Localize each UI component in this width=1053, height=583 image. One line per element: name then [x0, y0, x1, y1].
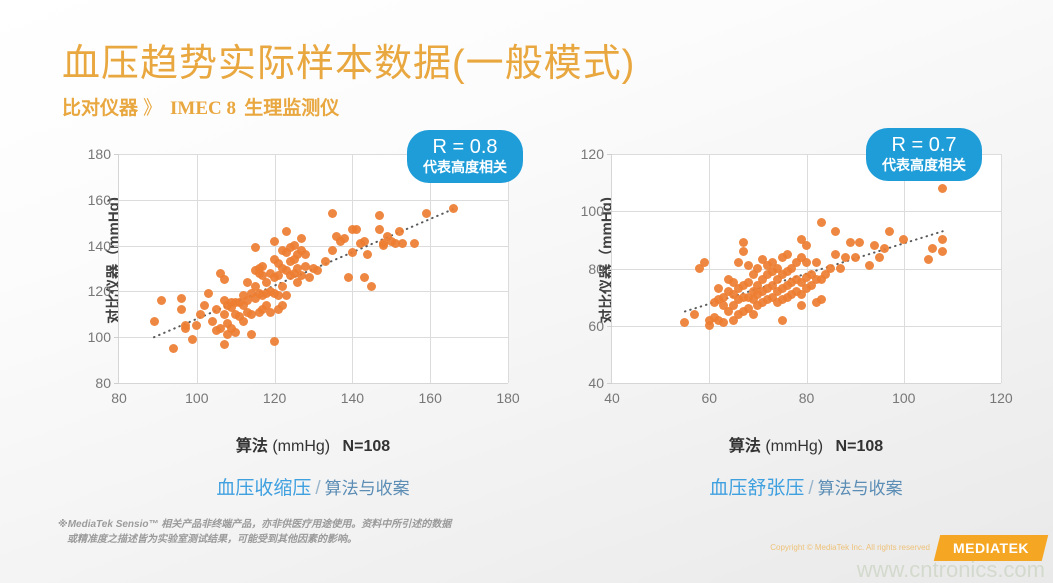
gridline-vertical — [275, 154, 276, 383]
y-axis-tick-label: 120 — [581, 146, 604, 162]
caption-secondary: 算法与收案 — [325, 479, 410, 498]
scatter-point — [855, 238, 864, 247]
y-axis-tick-label: 100 — [88, 329, 111, 345]
scatter-point — [270, 337, 279, 346]
scatter-point — [278, 301, 287, 310]
page-title: 血压趋势实际样本数据(一般模式) — [62, 32, 635, 87]
caption-slash: / — [311, 478, 324, 499]
chart-caption-systolic: 血压收缩压/算法与收案 — [118, 473, 508, 500]
badge-r-value: R = 0.8 — [423, 136, 507, 159]
gridline-horizontal — [119, 246, 508, 247]
scatter-point — [270, 237, 279, 246]
chart-diastolic: 对比仪器（mmHg) 406080100120406080100120 R = … — [548, 140, 1018, 415]
plot-wrap-diastolic: 406080100120406080100120 — [611, 154, 1001, 384]
y-axis-tick-label: 40 — [588, 375, 604, 391]
y-axis-tick-label: 120 — [88, 283, 111, 299]
y-axis-tick-mark — [114, 154, 119, 155]
caption-primary: 血压收缩压 — [216, 478, 311, 499]
scatter-point — [282, 227, 291, 236]
scatter-point — [258, 262, 267, 271]
scatter-point — [321, 257, 330, 266]
y-axis-tick-label: 180 — [88, 146, 111, 162]
y-axis-tick-label: 80 — [95, 375, 111, 391]
x-axis-title-bold: 算法 — [729, 438, 761, 455]
scatter-point — [928, 244, 937, 253]
scatter-point — [812, 258, 821, 267]
scatter-point — [352, 225, 361, 234]
scatter-point — [739, 247, 748, 256]
y-axis-tick-label: 60 — [588, 318, 604, 334]
gridline-vertical — [352, 154, 353, 383]
scatter-point — [753, 264, 762, 273]
scatter-point — [208, 317, 217, 326]
scatter-point — [181, 324, 190, 333]
caption-primary: 血压舒张压 — [709, 478, 804, 499]
scatter-point — [220, 275, 229, 284]
scatter-point — [220, 340, 229, 349]
scatter-point — [938, 247, 947, 256]
y-axis-tick-label: 160 — [88, 192, 111, 208]
disclaimer-text: ※MediaTek Sensio™ 相关产品非终端产品，亦非供医疗用途使用。资料… — [58, 517, 528, 547]
chart-canvas-diastolic: 对比仪器（mmHg) 406080100120406080100120 R = … — [548, 140, 1018, 415]
x-axis-tick-label: 100 — [185, 390, 208, 406]
scatter-point — [305, 273, 314, 282]
x-axis-title-bold: 算法 — [236, 438, 268, 455]
page-subtitle: 比对仪器》IMEC 8 生理监测仪 — [62, 93, 339, 120]
scatter-point — [449, 204, 458, 213]
gridline-horizontal — [119, 200, 508, 201]
scatter-point — [836, 264, 845, 273]
y-axis-tick-mark — [607, 383, 612, 384]
x-axis-tick-label: 80 — [111, 390, 127, 406]
scatter-point — [363, 250, 372, 259]
x-axis-tick-label: 120 — [989, 390, 1012, 406]
caption-secondary: 算法与收案 — [818, 479, 903, 498]
chart-systolic: 对比仪器（mmHg) 80100120140160180801001201401… — [55, 140, 525, 415]
x-axis-title-diastolic: 算法 (mmHg) N=108 — [611, 432, 1001, 456]
scatter-point — [375, 225, 384, 234]
scatter-point — [714, 284, 723, 293]
site-watermark: www.cntronics.com — [857, 557, 1045, 583]
scatter-point — [200, 301, 209, 310]
scatter-point — [278, 282, 287, 291]
scatter-point — [192, 321, 201, 330]
x-axis-title-unit: (mmHg) — [272, 438, 330, 455]
badge-r-value: R = 0.7 — [882, 134, 966, 157]
scatter-point — [826, 264, 835, 273]
y-axis-tick-mark — [114, 383, 119, 384]
gridline-vertical — [904, 154, 905, 383]
y-axis-tick-mark — [607, 154, 612, 155]
subtitle-suffix: 生理监测仪 — [244, 98, 339, 119]
scatter-point — [196, 310, 205, 319]
scatter-point — [734, 258, 743, 267]
scatter-point — [157, 296, 166, 305]
scatter-point — [700, 258, 709, 267]
scatter-point — [846, 238, 855, 247]
badge-r-note: 代表高度相关 — [882, 157, 966, 173]
scatter-point — [841, 253, 850, 262]
scatter-point — [282, 291, 291, 300]
gridline-horizontal — [119, 291, 508, 292]
scatter-point — [169, 344, 178, 353]
disclaimer-line-1: ※MediaTek Sensio™ 相关产品非终端产品，亦非供医疗用途使用。资料… — [58, 519, 451, 530]
caption-slash: / — [804, 478, 817, 499]
scatter-point — [360, 273, 369, 282]
scatter-point — [220, 310, 229, 319]
scatter-point — [899, 235, 908, 244]
x-axis-tick-label: 60 — [701, 390, 717, 406]
scatter-point — [297, 234, 306, 243]
scatter-point — [938, 235, 947, 244]
scatter-point — [367, 282, 376, 291]
subtitle-separator: 》 — [138, 98, 167, 119]
scatter-point — [938, 184, 947, 193]
scatter-point — [301, 250, 310, 259]
scatter-point — [802, 258, 811, 267]
scatter-point — [831, 250, 840, 259]
scatter-point — [851, 253, 860, 262]
x-axis-tick-label: 160 — [419, 390, 442, 406]
scatter-point — [778, 316, 787, 325]
y-axis-tick-label: 140 — [88, 238, 111, 254]
scatter-point — [204, 289, 213, 298]
scatter-point — [924, 255, 933, 264]
scatter-point — [783, 250, 792, 259]
correlation-badge-systolic: R = 0.8 代表高度相关 — [407, 130, 523, 183]
scatter-point — [348, 248, 357, 257]
y-axis-tick-mark — [114, 291, 119, 292]
scatter-point — [395, 227, 404, 236]
disclaimer-line-2: 或精准度之描述皆为实验室测试结果，可能受到其他因素的影响。 — [58, 532, 528, 547]
scatter-point — [177, 294, 186, 303]
scatter-point — [177, 305, 186, 314]
x-axis-tick-label: 40 — [604, 390, 620, 406]
scatter-point — [313, 266, 322, 275]
badge-r-note: 代表高度相关 — [423, 159, 507, 175]
gridline-vertical — [807, 154, 808, 383]
scatter-point — [880, 244, 889, 253]
gridline-vertical — [508, 154, 509, 383]
scatter-point — [231, 328, 240, 337]
scatter-point — [150, 317, 159, 326]
y-axis-tick-mark — [607, 269, 612, 270]
scatter-point — [410, 239, 419, 248]
scatter-point — [802, 241, 811, 250]
x-axis-tick-label: 100 — [892, 390, 915, 406]
subtitle-prefix: 比对仪器 — [62, 98, 138, 119]
y-axis-tick-mark — [607, 211, 612, 212]
plot-area-diastolic: 406080100120406080100120 — [611, 154, 1001, 384]
y-axis-tick-mark — [607, 326, 612, 327]
scatter-point — [870, 241, 879, 250]
scatter-point — [797, 301, 806, 310]
scatter-point — [251, 243, 260, 252]
scatter-point — [885, 227, 894, 236]
scatter-point — [239, 317, 248, 326]
scatter-point — [739, 238, 748, 247]
correlation-badge-diastolic: R = 0.7 代表高度相关 — [866, 128, 982, 181]
scatter-point — [817, 218, 826, 227]
scatter-point — [360, 237, 369, 246]
x-axis-title-unit: (mmHg) — [765, 438, 823, 455]
y-axis-tick-mark — [114, 200, 119, 201]
plot-area-systolic: 8010012014016018080100120140160180 — [118, 154, 508, 384]
scatter-point — [340, 234, 349, 243]
subtitle-device: IMEC 8 — [167, 98, 239, 119]
scatter-point — [690, 310, 699, 319]
y-axis-tick-label: 80 — [588, 261, 604, 277]
gridline-vertical — [430, 154, 431, 383]
scatter-point — [328, 209, 337, 218]
x-axis-tick-label: 140 — [341, 390, 364, 406]
y-axis-tick-mark — [114, 337, 119, 338]
gridline-horizontal — [119, 337, 508, 338]
scatter-point — [749, 310, 758, 319]
scatter-point — [817, 295, 826, 304]
scatter-point — [875, 253, 884, 262]
copyright-text: Copyright © MediaTek Inc. All rights res… — [770, 543, 930, 552]
chart-caption-diastolic: 血压舒张压/算法与收案 — [611, 473, 1001, 500]
plot-wrap-systolic: 8010012014016018080100120140160180 — [118, 154, 508, 384]
scatter-point — [422, 209, 431, 218]
y-axis-tick-mark — [114, 246, 119, 247]
x-axis-sample-count: N=108 — [828, 438, 884, 455]
scatter-point — [375, 211, 384, 220]
scatter-point — [744, 261, 753, 270]
gridline-vertical — [197, 154, 198, 383]
scatter-point — [328, 246, 337, 255]
x-axis-tick-label: 80 — [799, 390, 815, 406]
scatter-point — [744, 278, 753, 287]
x-axis-sample-count: N=108 — [335, 438, 391, 455]
x-axis-title-systolic: 算法 (mmHg) N=108 — [118, 432, 508, 456]
scatter-point — [831, 227, 840, 236]
y-axis-tick-label: 100 — [581, 203, 604, 219]
x-axis-tick-label: 120 — [263, 390, 286, 406]
chart-canvas-systolic: 对比仪器（mmHg) 80100120140160180801001201401… — [55, 140, 525, 415]
gridline-vertical — [1001, 154, 1002, 383]
x-axis-tick-label: 180 — [496, 390, 519, 406]
gridline-vertical — [709, 154, 710, 383]
